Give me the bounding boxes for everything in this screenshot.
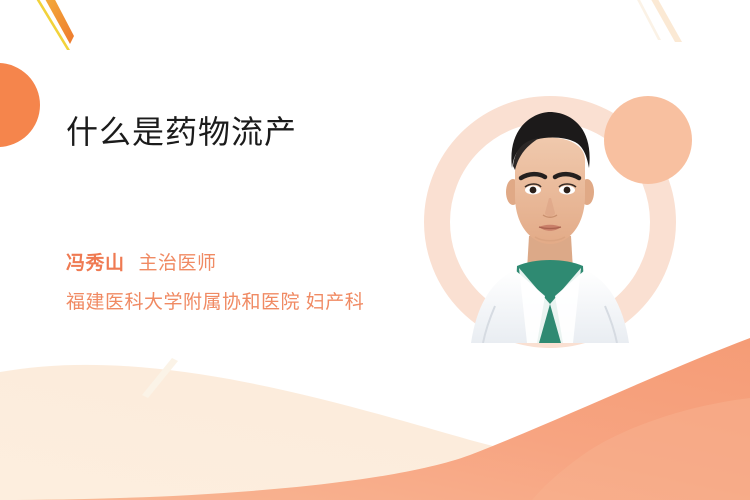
salmon-wave bbox=[0, 338, 750, 500]
doctor-video-cover-card: 什么是药物流产 冯秀山 主治医师 福建医科大学附属协和医院 妇产科 bbox=[0, 0, 750, 500]
doctor-info-block: 冯秀山 主治医师 福建医科大学附属协和医院 妇产科 bbox=[66, 248, 466, 314]
cream-diagonal-strokes bbox=[634, 0, 682, 42]
cream-diagonal-stroke-bottom bbox=[142, 358, 178, 398]
orange-circle bbox=[0, 63, 40, 147]
yellow-thin-stroke bbox=[33, 0, 70, 50]
doctor-portrait bbox=[455, 98, 645, 343]
page-title: 什么是药物流产 bbox=[66, 112, 446, 152]
cream-wave bbox=[0, 365, 750, 500]
doctor-rank: 主治医师 bbox=[139, 248, 217, 275]
doctor-portrait-image bbox=[455, 98, 645, 343]
doctor-name-row: 冯秀山 主治医师 bbox=[66, 248, 466, 275]
title-block: 什么是药物流产 bbox=[66, 112, 446, 152]
doctor-affiliation: 福建医科大学附属协和医院 妇产科 bbox=[66, 287, 466, 314]
orange-ribbon-stroke bbox=[40, 0, 74, 44]
doctor-name: 冯秀山 bbox=[66, 248, 125, 275]
